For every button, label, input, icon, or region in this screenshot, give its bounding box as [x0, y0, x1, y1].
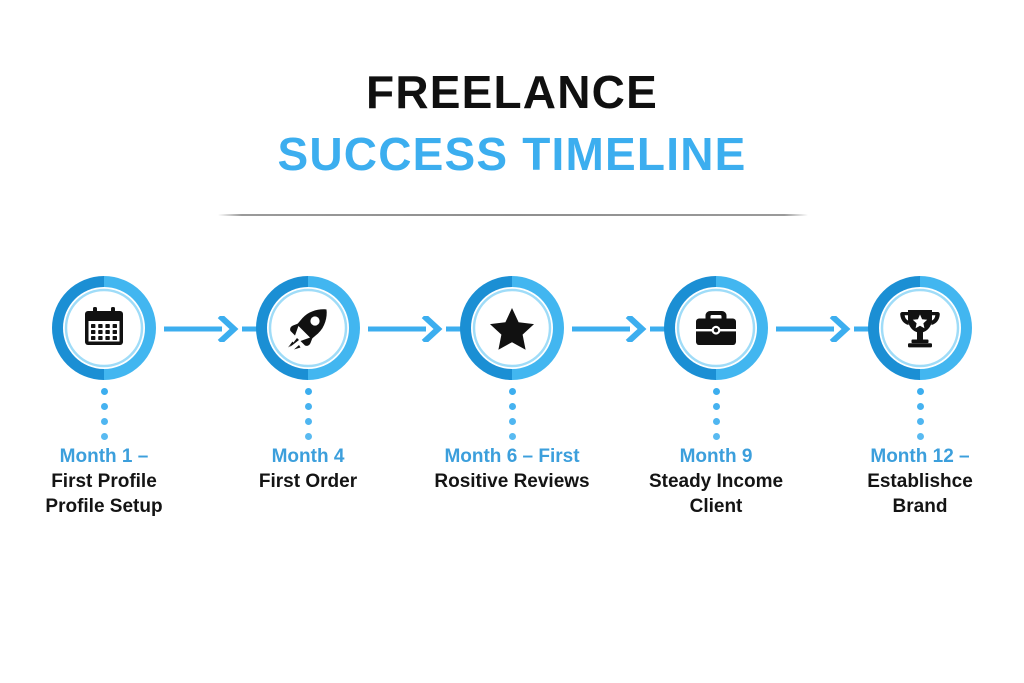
timeline-node-4[interactable] — [660, 272, 772, 384]
rocket-icon — [282, 302, 334, 354]
connector-4-5 — [776, 316, 872, 342]
node-desc-1-line2: Profile Setup — [4, 494, 204, 519]
node-label-2: Month 4 First Order — [208, 444, 408, 494]
node-desc-4-line1: Steady Income — [616, 469, 816, 494]
connector-1-2 — [164, 316, 260, 342]
timeline-node-2[interactable] — [252, 272, 364, 384]
timeline-node-1[interactable] — [48, 272, 160, 384]
node-desc-4-line2: Client — [616, 494, 816, 519]
briefcase-icon — [690, 302, 742, 354]
connector-2-3 — [368, 316, 464, 342]
calendar-icon — [78, 302, 130, 354]
node-stem-5 — [916, 388, 924, 440]
timeline: Month 1 – First Profile Profile Setup — [0, 0, 1024, 683]
node-label-5: Month 12 – Establishce Brand — [820, 444, 1020, 519]
node-month-1: Month 1 – — [4, 444, 204, 469]
timeline-node-3[interactable] — [456, 272, 568, 384]
trophy-icon — [894, 302, 946, 354]
infographic-canvas: FREELANCE SUCCESS TIMELINE — [0, 0, 1024, 683]
node-label-1: Month 1 – First Profile Profile Setup — [4, 444, 204, 519]
node-desc-5-line1: Establishce — [820, 469, 1020, 494]
timeline-node-5[interactable] — [864, 272, 976, 384]
node-month-4: Month 9 — [616, 444, 816, 469]
star-icon — [486, 302, 538, 354]
node-month-3: Month 6 – First — [412, 444, 612, 469]
node-month-2: Month 4 — [208, 444, 408, 469]
node-month-5: Month 12 – — [820, 444, 1020, 469]
node-desc-5-line2: Brand — [820, 494, 1020, 519]
node-desc-1-line1: First Profile — [4, 469, 204, 494]
node-stem-3 — [508, 388, 516, 440]
node-desc-3-line1: Rositive Reviews — [412, 469, 612, 494]
node-label-3: Month 6 – First Rositive Reviews — [412, 444, 612, 494]
connector-3-4 — [572, 316, 668, 342]
node-stem-2 — [304, 388, 312, 440]
node-desc-2-line1: First Order — [208, 469, 408, 494]
node-stem-1 — [100, 388, 108, 440]
node-label-4: Month 9 Steady Income Client — [616, 444, 816, 519]
node-stem-4 — [712, 388, 720, 440]
